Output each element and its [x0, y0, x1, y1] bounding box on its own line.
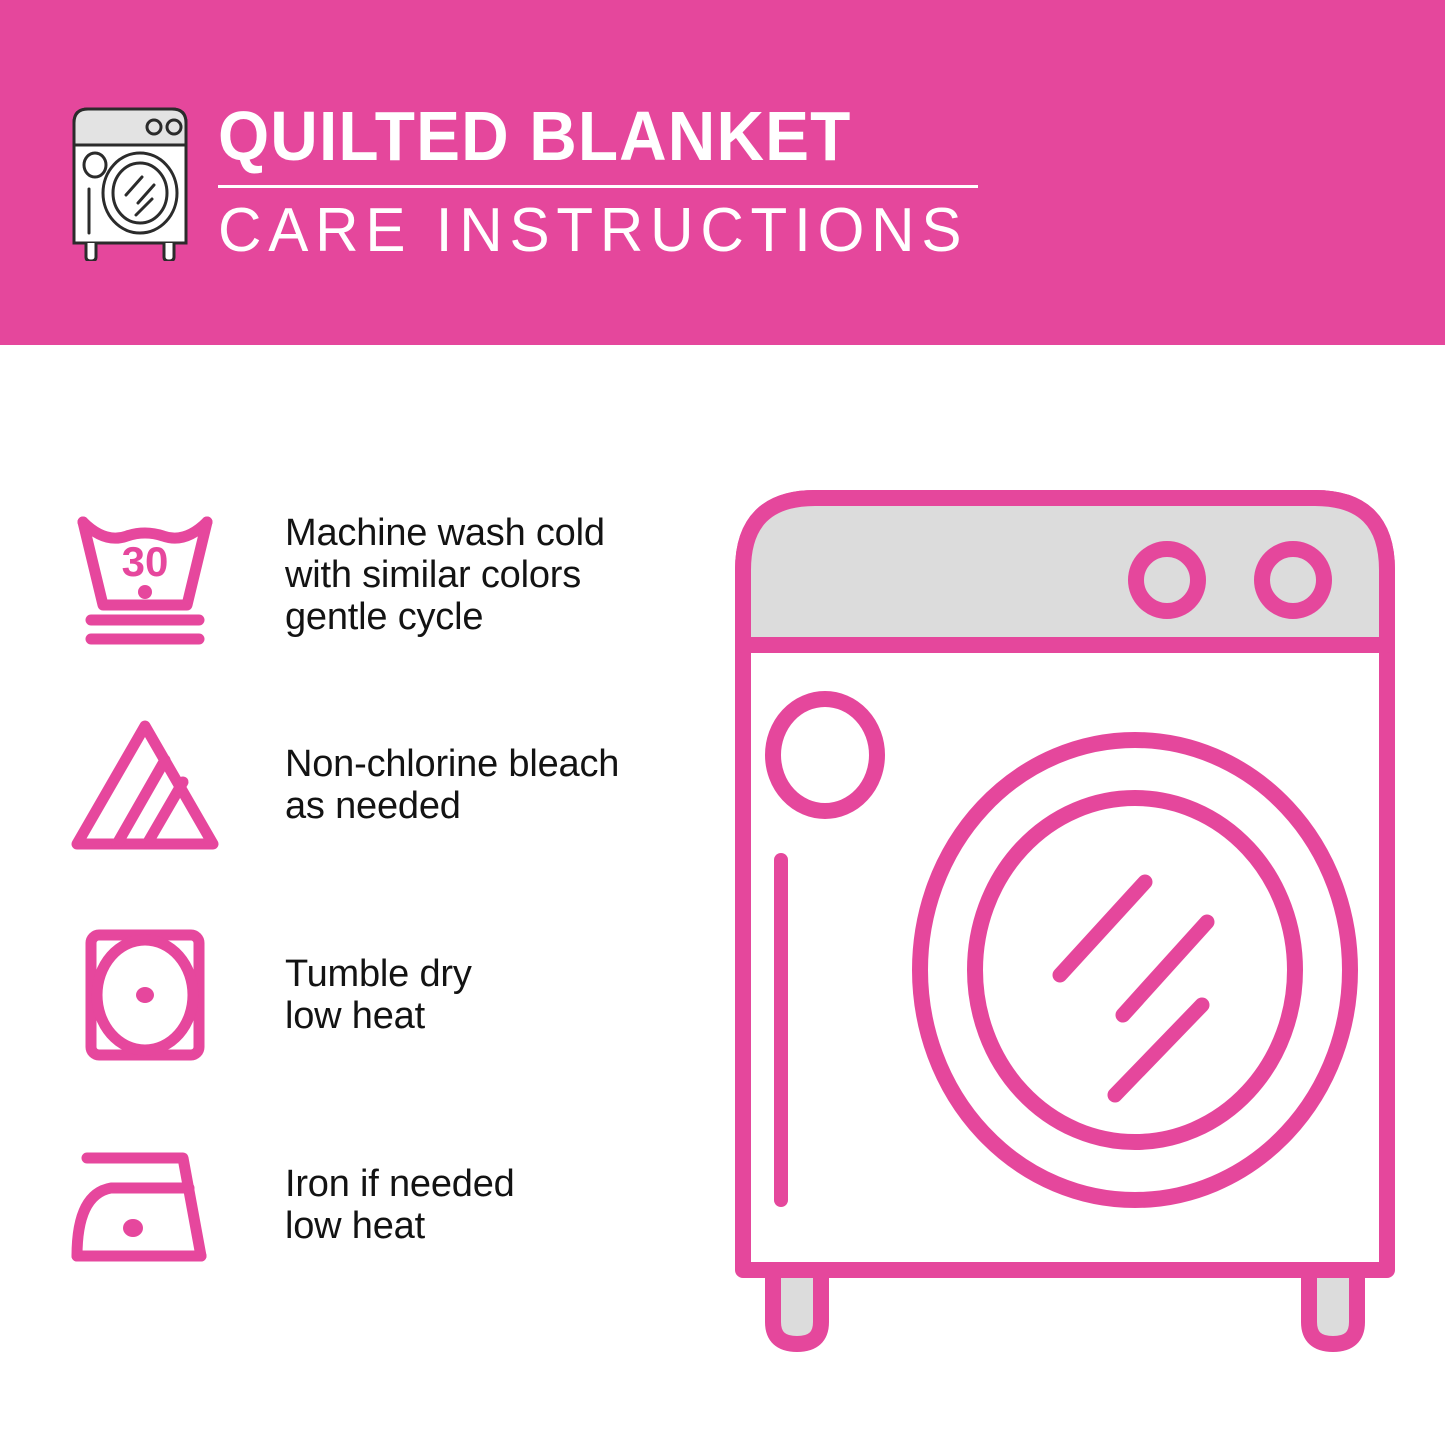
leg-right	[1309, 1270, 1357, 1344]
care-instruction-list: 30 Machine wash cold with similar colors…	[60, 470, 680, 1310]
care-text-line: low heat	[285, 995, 472, 1037]
care-text-line: as needed	[285, 785, 619, 827]
page-subtitle: CARE INSTRUCTIONS	[218, 198, 968, 264]
care-row-text: Machine wash cold with similar colors ge…	[285, 512, 605, 638]
washing-machine-logo-icon	[60, 101, 200, 261]
care-text-line: low heat	[285, 1205, 515, 1247]
care-text-line: with similar colors	[285, 554, 605, 596]
care-row-text: Iron if needed low heat	[285, 1163, 515, 1247]
iron-low-heat-icon	[60, 1125, 230, 1285]
header-banner: QUILTED BLANKET CARE INSTRUCTIONS	[0, 0, 1445, 345]
knob-right-icon	[1262, 549, 1324, 611]
tumble-dry-low-heat-icon	[60, 915, 230, 1075]
wash-tub-30-gentle-icon: 30	[60, 495, 230, 655]
care-row: 30 Machine wash cold with similar colors…	[60, 470, 680, 680]
knob-left-icon	[1136, 549, 1198, 611]
page-title: QUILTED BLANKET	[218, 99, 945, 173]
header-content: QUILTED BLANKET CARE INSTRUCTIONS	[60, 95, 991, 264]
care-row-text: Non-chlorine bleach as needed	[285, 743, 619, 827]
header-title-block: QUILTED BLANKET CARE INSTRUCTIONS	[218, 95, 991, 264]
care-text-line: gentle cycle	[285, 596, 605, 638]
title-divider	[218, 185, 978, 188]
wash-temperature-label: 30	[122, 538, 169, 585]
care-text-line: Tumble dry	[285, 953, 472, 995]
care-instructions-page: QUILTED BLANKET CARE INSTRUCTIONS	[0, 0, 1445, 1445]
care-row-text: Tumble dry low heat	[285, 953, 472, 1037]
non-chlorine-bleach-triangle-icon	[60, 705, 230, 865]
front-load-washing-machine-illustration	[715, 470, 1415, 1370]
care-row: Iron if needed low heat	[60, 1100, 680, 1310]
dispenser-icon	[773, 699, 877, 811]
door-inner-ring	[975, 798, 1295, 1142]
leg-left	[773, 1270, 821, 1344]
care-text-line: Machine wash cold	[285, 512, 605, 554]
care-row: Tumble dry low heat	[60, 890, 680, 1100]
care-row: Non-chlorine bleach as needed	[60, 680, 680, 890]
care-text-line: Iron if needed	[285, 1163, 515, 1205]
care-text-line: Non-chlorine bleach	[285, 743, 619, 785]
